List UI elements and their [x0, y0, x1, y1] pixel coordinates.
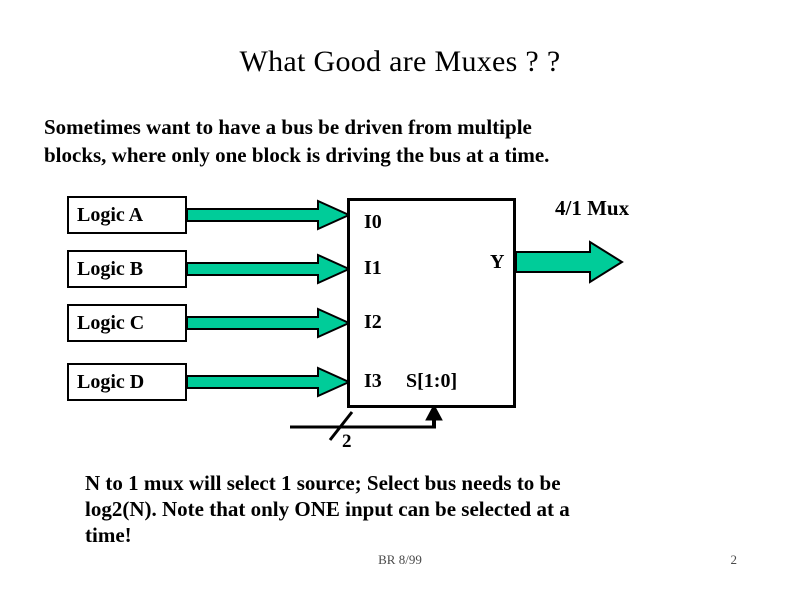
logic-block-label: Logic D [77, 372, 144, 392]
mux-input-label-i2: I2 [364, 312, 382, 332]
intro-line: blocks, where only one block is driving … [44, 141, 744, 169]
footer-page-number: 2 [731, 552, 738, 568]
logic-block-label: Logic B [77, 259, 143, 279]
logic-block-a: Logic A [67, 196, 187, 234]
summary-line: N to 1 mux will select 1 source; Select … [85, 470, 745, 496]
summary-line: time! [85, 522, 745, 548]
logic-block-c: Logic C [67, 304, 187, 342]
summary-line: log2(N). Note that only ONE input can be… [85, 496, 745, 522]
mux-input-label-i3: I3 [364, 371, 382, 391]
output-arrow-y-icon [516, 242, 622, 282]
input-arrow-b-icon [187, 255, 349, 283]
summary-paragraph: N to 1 mux will select 1 source; Select … [85, 470, 745, 548]
logic-block-label: Logic A [77, 205, 143, 225]
page-title: What Good are Muxes ? ? [0, 45, 800, 79]
input-arrow-a-icon [187, 201, 349, 229]
input-arrow-d-icon [187, 368, 349, 396]
mux-input-label-i0: I0 [364, 212, 382, 232]
mux-input-label-i1: I1 [364, 258, 382, 278]
logic-block-b: Logic B [67, 250, 187, 288]
intro-paragraph: Sometimes want to have a bus be driven f… [44, 113, 744, 169]
select-bus-width-label: 2 [342, 432, 352, 451]
intro-line: Sometimes want to have a bus be driven f… [44, 113, 744, 141]
input-arrow-c-icon [187, 309, 349, 337]
mux-select-label: S[1:0] [406, 371, 457, 391]
mux-output-label-y: Y [490, 252, 504, 272]
mux-caption: 4/1 Mux [555, 198, 629, 219]
slide-canvas: What Good are Muxes ? ? Sometimes want t… [0, 0, 800, 600]
footer-author: BR 8/99 [0, 552, 800, 568]
logic-block-d: Logic D [67, 363, 187, 401]
logic-block-label: Logic C [77, 313, 144, 333]
